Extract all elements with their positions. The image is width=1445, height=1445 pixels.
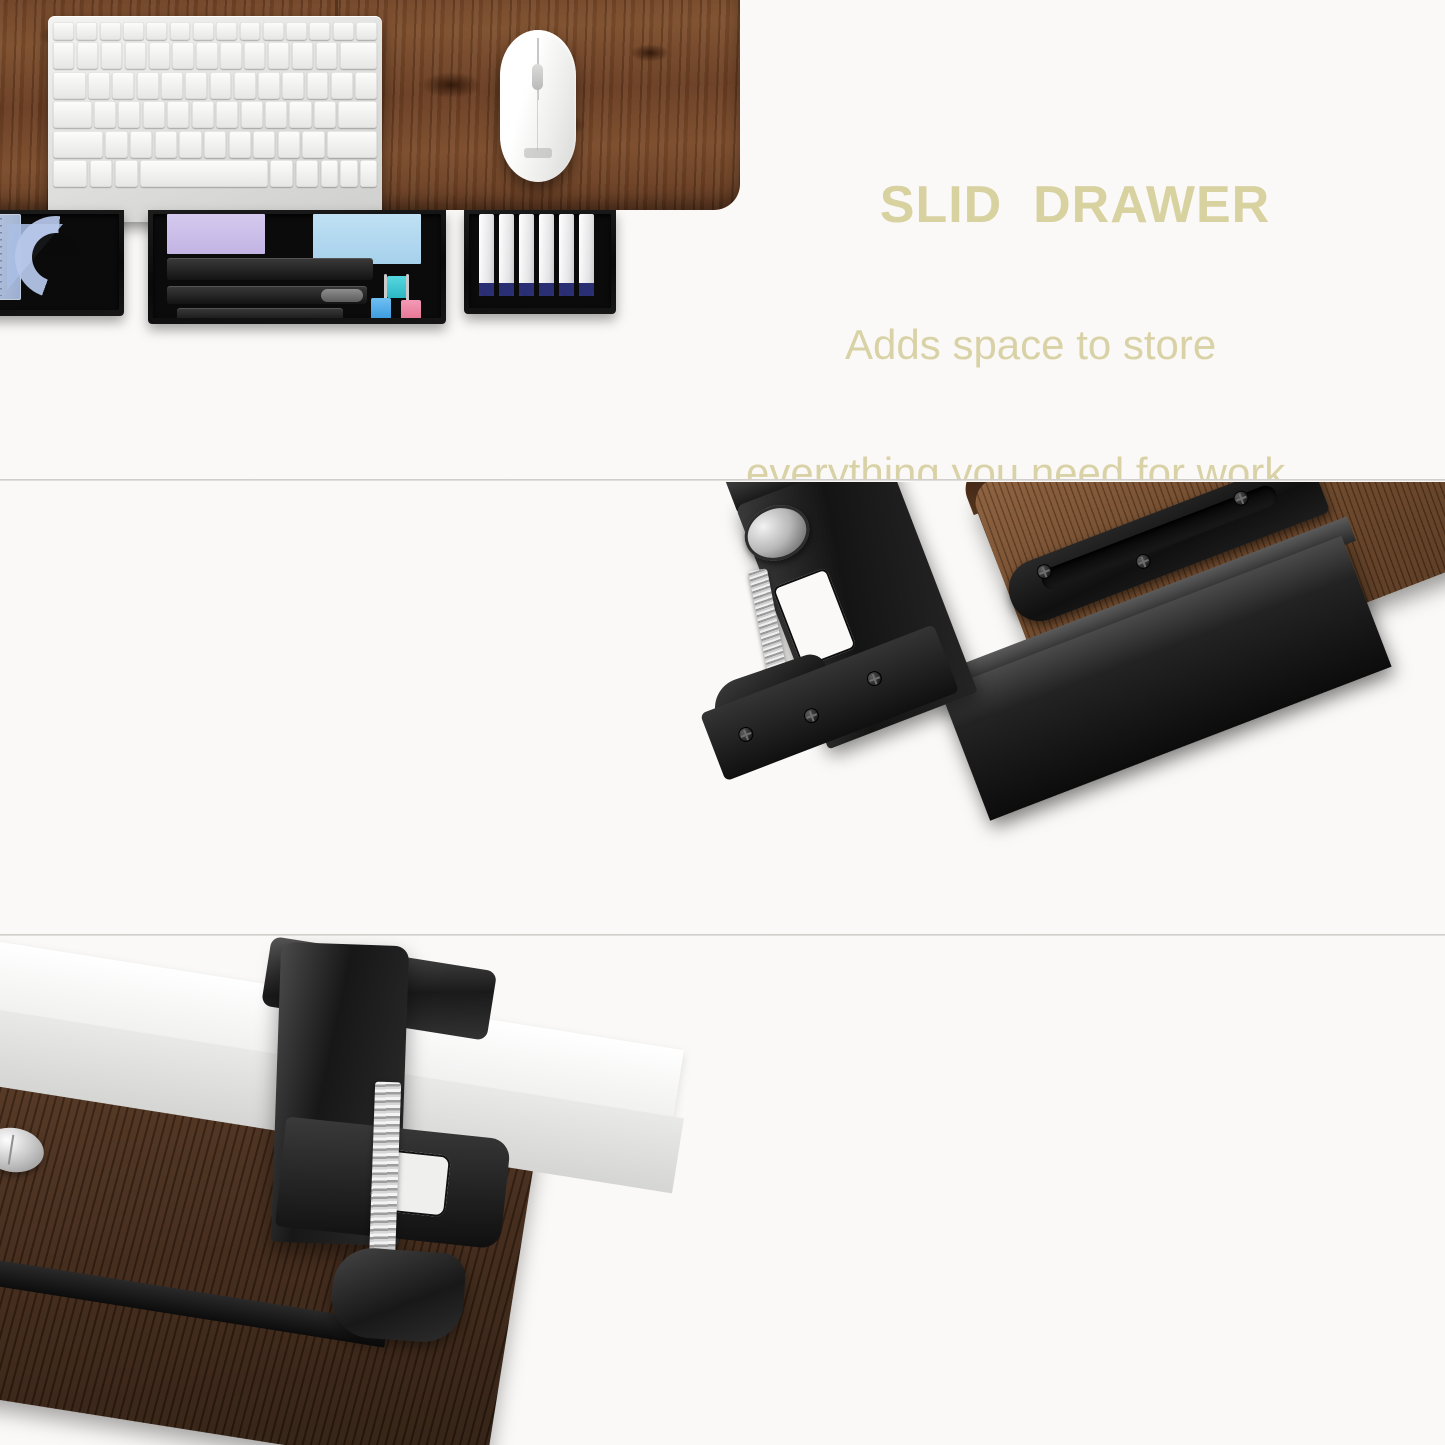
marker (499, 214, 514, 296)
panel-smooth-glide-tracke: SMOOTH GLIDE TRACKE Easily pulled out an… (0, 482, 1445, 934)
binder-clip-pink (401, 300, 421, 318)
panel-c-clamp-mount: C CLAMP MOUNT Easy to install No tools r… (0, 936, 1445, 1445)
panel-1-subline-line1: Adds space to store (845, 321, 1216, 368)
screw (736, 725, 755, 744)
keyboard (48, 16, 382, 222)
marker (559, 214, 574, 296)
mouse-scroll-wheel (532, 64, 543, 90)
screw (865, 669, 884, 688)
panel-1-subline-line2: everything you need for work (746, 445, 1440, 480)
panel-1-subline: Adds space to store everything you need … (740, 261, 1440, 480)
desk-top-wood (0, 0, 740, 210)
panel-divider (0, 479, 1445, 481)
panel-slid-drawer: SLID DRAWER Adds space to store everythi… (0, 0, 1445, 480)
marker (479, 214, 494, 296)
screw (802, 706, 821, 725)
marker (579, 214, 594, 296)
pen (167, 258, 373, 280)
binder-clip-blue (371, 298, 391, 318)
wood-knot (420, 72, 482, 98)
sticky-note-purple (167, 214, 265, 254)
protractor (15, 216, 97, 298)
binder-clip-cyan (387, 276, 407, 298)
sticky-note-blue (313, 214, 421, 264)
desk-with-drawer-photo (0, 0, 740, 334)
pen (177, 308, 343, 318)
mouse-seam (537, 92, 538, 150)
drawer-tray-left (0, 210, 124, 316)
mouse-logo (524, 148, 552, 158)
marker (539, 214, 554, 296)
binder-clip-group (371, 276, 441, 318)
drawer-tray-right (464, 210, 616, 314)
infographic-page: SLID DRAWER Adds space to store everythi… (0, 0, 1445, 1445)
panel-1-headline: SLID DRAWER (740, 178, 1440, 233)
c-clamp-mount-photo (0, 936, 654, 1445)
slid-drawer-text-block: SLID DRAWER Adds space to store everythi… (740, 178, 1440, 480)
mouse (500, 30, 576, 182)
wood-knot (630, 44, 670, 62)
drawer-tray-center (148, 210, 446, 324)
pen-grip (321, 289, 363, 302)
glide-track-clamp-photo (700, 482, 1445, 934)
clamp-tightening-knob (329, 1246, 467, 1345)
marker (519, 214, 534, 296)
